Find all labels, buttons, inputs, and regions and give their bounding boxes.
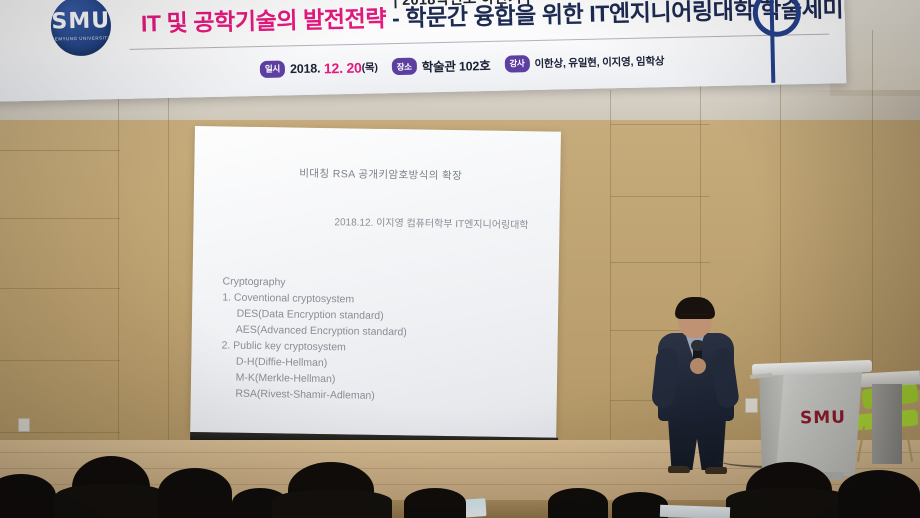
wall-seam <box>0 360 120 361</box>
banner-meta-date: 일시2018. 12. 20(목) <box>260 58 378 79</box>
slide-title: 비대칭 RSA 공개키암호방식의 확장 <box>299 166 462 184</box>
wall-seam <box>610 196 710 197</box>
banner-divider <box>129 34 829 50</box>
wall-seam <box>0 150 120 151</box>
projection-screen: 비대칭 RSA 공개키암호방식의 확장 2018.12. 이지영 컴퓨터학부 I… <box>190 126 561 452</box>
wall-seam <box>118 96 119 446</box>
lecture-hall-photo: SMU SEMYUNG UNIVERSITY | 2018학년도 하반기 | I… <box>0 0 920 518</box>
smu-logo: SMU SEMYUNG UNIVERSITY <box>50 0 111 57</box>
banner-meta-lecturers: 강사이한상, 유일현, 이지영, 임학상 <box>504 52 664 73</box>
presenter-shoe <box>705 467 727 474</box>
banner-meta-row: 일시2018. 12. 20(목) 장소학술관 102호 강사이한상, 유일현,… <box>260 51 665 79</box>
presenter-legs <box>668 418 726 470</box>
banner-meta-place: 장소학술관 102호 <box>392 55 491 76</box>
wall-seam <box>610 262 710 263</box>
audience-head <box>158 468 232 518</box>
audience-shoulders <box>726 488 852 518</box>
wall-seam <box>0 288 120 289</box>
audience-shoulders <box>272 490 392 518</box>
smu-logo-subtitle: SEMYUNG UNIVERSITY <box>51 35 111 41</box>
wall-outlet-icon <box>18 418 30 432</box>
badge-place-label: 장소 <box>392 58 417 76</box>
presenter-shoe <box>668 466 690 473</box>
smu-logo-word: SMU <box>51 10 110 33</box>
wall-seam <box>0 218 120 219</box>
date-suffix: (목) <box>362 61 378 73</box>
wall-seam <box>610 124 710 125</box>
presenter <box>650 300 760 472</box>
microphone-head-icon <box>691 340 704 351</box>
wall-seam <box>0 432 120 433</box>
lecturer-names: 이한상, 유일현, 이지영, 임학상 <box>534 55 664 70</box>
wall-shadow <box>760 90 920 390</box>
banner-title-primary: IT 및 공학기술의 발전전략 <box>141 5 387 36</box>
date-accent: 12. 20 <box>320 59 362 76</box>
slide-surface: 비대칭 RSA 공개키암호방식의 확장 2018.12. 이지영 컴퓨터학부 I… <box>190 126 561 438</box>
side-table-leg <box>872 384 902 464</box>
presenter-hand <box>690 358 706 374</box>
lectern-smu-label: SMU <box>800 408 846 429</box>
banner-title: IT 및 공학기술의 발전전략 - 학문간 융합을 위한 IT엔지니어링대학 학… <box>141 0 847 36</box>
banner-ring-icon <box>752 0 801 37</box>
date-prefix: 2018. <box>290 61 321 76</box>
lectern: SMU <box>756 362 868 480</box>
glasses-icon <box>681 314 709 322</box>
slide-meta: 2018.12. 이지영 컴퓨터학부 IT엔지니어링대학 <box>321 216 541 234</box>
papers-on-desk <box>660 505 730 518</box>
audience-head <box>404 488 466 518</box>
place-value: 학술관 102호 <box>422 59 491 74</box>
badge-date-label: 일시 <box>260 60 285 78</box>
wall-seam <box>610 90 611 446</box>
badge-lecturer-label: 강사 <box>504 55 529 73</box>
audience-shoulders <box>54 484 170 518</box>
slide-body: Cryptography 1. Coventional cryptosystem… <box>221 274 408 405</box>
audience-head <box>548 488 608 518</box>
wall-seam <box>168 96 169 446</box>
audience-head <box>838 470 920 518</box>
